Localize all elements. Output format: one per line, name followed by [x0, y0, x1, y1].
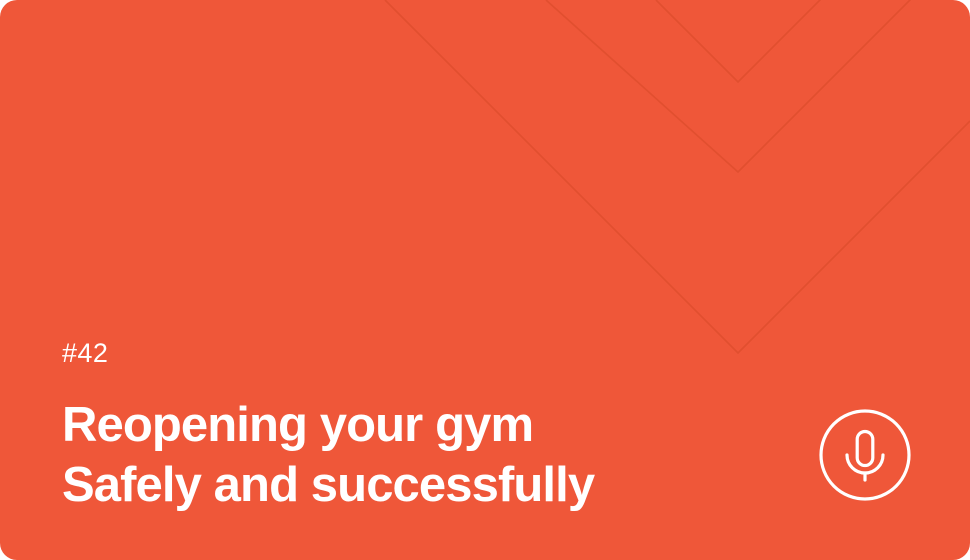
chevron-inner	[656, 0, 970, 82]
microphone-icon	[819, 409, 911, 501]
episode-title-line-1: Reopening your gym	[62, 395, 762, 455]
podcast-episode-cover: #42 Reopening your gym Safely and succes…	[0, 0, 970, 560]
microphone-capsule	[857, 432, 873, 466]
episode-title-line-2: Safely and successfully	[62, 455, 762, 515]
chevron-outer	[385, 0, 970, 353]
episode-text-block: #42 Reopening your gym Safely and succes…	[62, 340, 762, 515]
chevron-middle	[546, 0, 970, 172]
page-title: Reopening your gym Safely and successful…	[62, 395, 762, 515]
episode-number: #42	[62, 340, 762, 367]
microphone-circle-outline	[821, 411, 909, 499]
